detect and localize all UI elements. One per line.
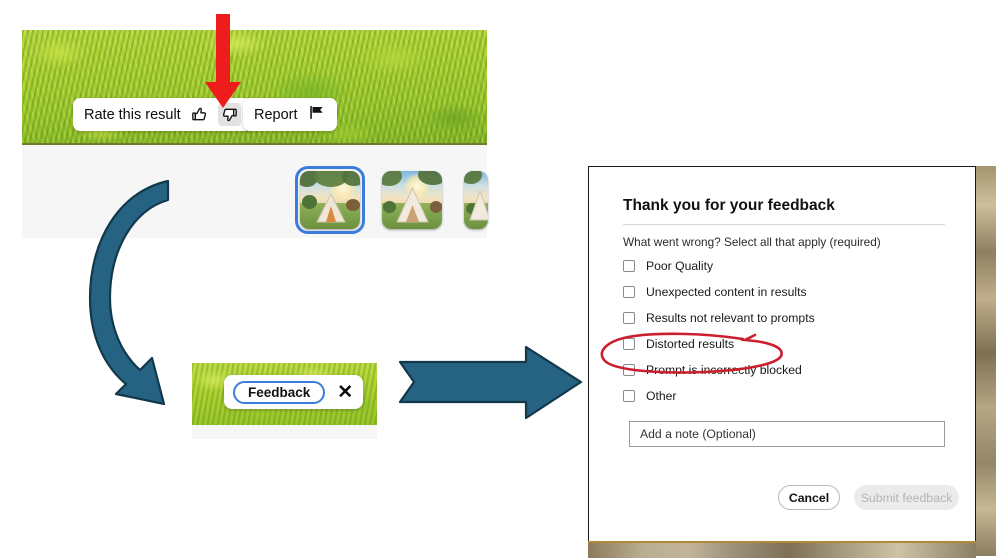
checkbox-unexpected-content[interactable] <box>623 286 635 298</box>
dialog-divider <box>623 224 945 225</box>
report-label: Report <box>254 107 298 123</box>
background-photo-strip-right <box>976 166 996 556</box>
red-ellipse-highlight-annotation <box>595 332 803 376</box>
background-photo-strip-bottom <box>588 541 976 558</box>
thumbnail-image-3[interactable] <box>464 171 488 229</box>
dialog-title: Thank you for your feedback <box>623 197 835 215</box>
checkbox-other[interactable] <box>623 390 635 402</box>
red-down-arrow-annotation <box>203 14 243 114</box>
checkbox-row-unexpected-content[interactable]: Unexpected content in results <box>623 285 807 299</box>
feedback-context-shelf <box>192 425 377 439</box>
checkbox-row-other[interactable]: Other <box>623 389 676 403</box>
feedback-button[interactable]: Feedback <box>233 381 325 404</box>
teal-right-arrow-annotation <box>398 345 583 420</box>
feedback-popup: Feedback ✕ <box>224 375 363 409</box>
report-toolbar[interactable]: Report <box>243 98 337 131</box>
note-placeholder: Add a note (Optional) <box>640 427 756 441</box>
note-input[interactable]: Add a note (Optional) <box>629 421 945 447</box>
checkbox-poor-quality[interactable] <box>623 260 635 272</box>
checkbox-label: Poor Quality <box>646 259 713 273</box>
cancel-button[interactable]: Cancel <box>778 485 840 510</box>
checkbox-row-poor-quality[interactable]: Poor Quality <box>623 259 713 273</box>
checkbox-label: Results not relevant to prompts <box>646 311 815 325</box>
checkbox-label: Other <box>646 389 676 403</box>
flag-icon[interactable] <box>307 104 326 126</box>
checkbox-label: Unexpected content in results <box>646 285 807 299</box>
dialog-subtitle: What went wrong? Select all that apply (… <box>623 235 881 249</box>
thumbnail-image-2[interactable] <box>382 171 442 229</box>
checkbox-row-not-relevant[interactable]: Results not relevant to prompts <box>623 311 815 325</box>
submit-feedback-button: Submit feedback <box>854 485 959 510</box>
rate-this-result-label: Rate this result <box>84 107 181 123</box>
feedback-dialog: Thank you for your feedback What went wr… <box>588 166 976 556</box>
checkbox-not-relevant[interactable] <box>623 312 635 324</box>
close-icon[interactable]: ✕ <box>337 383 353 402</box>
